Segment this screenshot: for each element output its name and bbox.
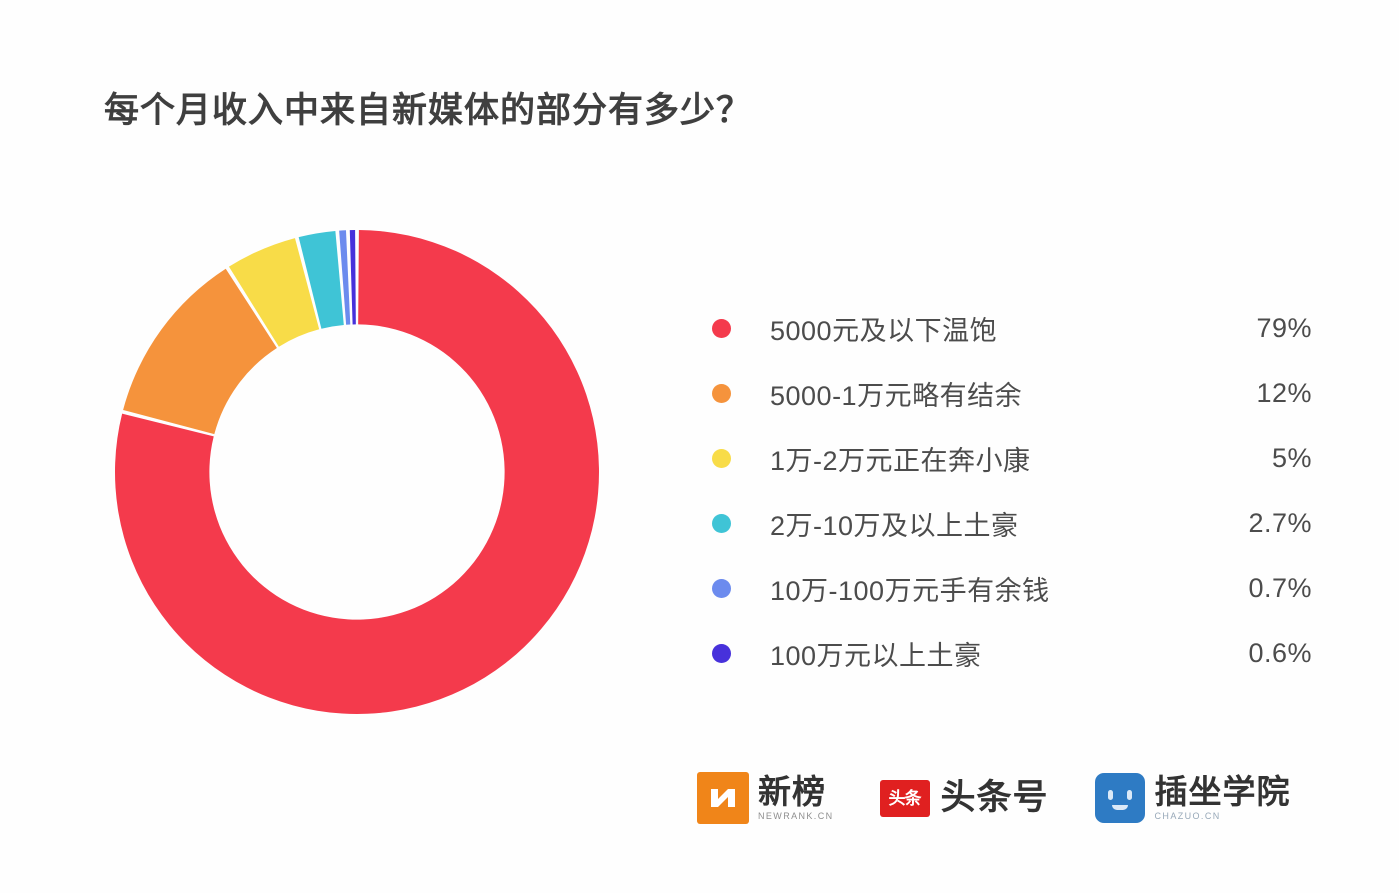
chazuo-mouth-icon: [1112, 805, 1128, 810]
legend-item-value: 2.7%: [1192, 508, 1312, 539]
toutiao-badge-label: 头条: [889, 790, 921, 807]
logo-chazuo[interactable]: 插坐学院 CHAZUO.CN: [1095, 773, 1291, 823]
legend-item-value: 0.7%: [1192, 573, 1312, 604]
legend-item-value: 0.6%: [1192, 638, 1312, 669]
legend-color-swatch: [712, 319, 731, 338]
chazuo-eye-right-icon: [1127, 790, 1132, 800]
logo-toutiaohao[interactable]: 头条 头条号: [880, 780, 1049, 817]
donut-slice[interactable]: [350, 230, 356, 324]
legend-item[interactable]: 1万-2万元正在奔小康 5%: [712, 426, 1312, 491]
newrank-cn-name: 新榜: [758, 775, 834, 810]
legend-item-label: 5000元及以下温饱: [770, 309, 1192, 348]
page-title: 每个月收入中来自新媒体的部分有多少？: [104, 82, 752, 133]
toutiaohao-cn-name: 头条号: [941, 780, 1049, 817]
footer-logo-bar: 新榜 NEWRANK.CN 头条 头条号 插坐学院 CHAZUO.CN: [697, 772, 1291, 824]
donut-chart-svg: [114, 229, 600, 715]
legend-color-swatch: [712, 384, 731, 403]
legend-item[interactable]: 5000-1万元略有结余 12%: [712, 361, 1312, 426]
logo-newrank[interactable]: 新榜 NEWRANK.CN: [697, 772, 834, 824]
chazuo-cn-name: 插坐学院: [1155, 775, 1291, 810]
legend-item-label: 5000-1万元略有结余: [770, 374, 1192, 413]
chazuo-eye-left-icon: [1108, 790, 1113, 800]
legend-item-label: 10万-100万元手有余钱: [770, 569, 1192, 608]
legend-item-value: 5%: [1192, 443, 1312, 474]
chazuo-face-icon: [1095, 773, 1145, 823]
legend-color-swatch: [712, 514, 731, 533]
legend-item-label: 1万-2万元正在奔小康: [770, 439, 1192, 478]
newrank-n-glyph-icon: [706, 781, 740, 815]
newrank-mark-icon: [697, 772, 749, 824]
legend-item[interactable]: 10万-100万元手有余钱 0.7%: [712, 556, 1312, 621]
newrank-en-name: NEWRANK.CN: [758, 811, 834, 821]
donut-chart: [114, 229, 600, 715]
legend-color-swatch: [712, 449, 731, 468]
chazuo-en-name: CHAZUO.CN: [1155, 811, 1291, 821]
donut-slice-group: [115, 230, 599, 714]
legend-color-swatch: [712, 579, 731, 598]
legend-item-value: 12%: [1192, 378, 1312, 409]
legend-item-value: 79%: [1192, 313, 1312, 344]
chart-legend: 5000元及以下温饱 79% 5000-1万元略有结余 12% 1万-2万元正在…: [712, 296, 1312, 686]
toutiao-badge-icon: 头条: [880, 780, 930, 817]
chazuo-text-block: 插坐学院 CHAZUO.CN: [1155, 775, 1291, 822]
legend-item[interactable]: 5000元及以下温饱 79%: [712, 296, 1312, 361]
newrank-text-block: 新榜 NEWRANK.CN: [758, 775, 834, 822]
legend-item[interactable]: 100万元以上土豪 0.6%: [712, 621, 1312, 686]
legend-item-label: 2万-10万及以上土豪: [770, 504, 1192, 543]
legend-color-swatch: [712, 644, 731, 663]
legend-item[interactable]: 2万-10万及以上土豪 2.7%: [712, 491, 1312, 556]
legend-item-label: 100万元以上土豪: [770, 634, 1192, 673]
